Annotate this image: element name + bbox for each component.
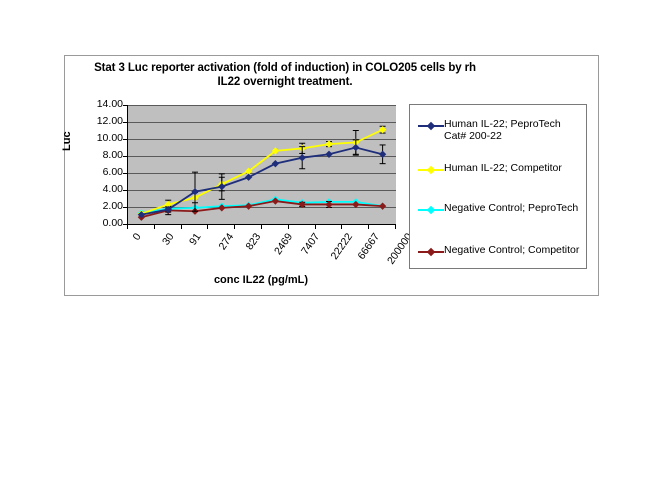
x-axis-tick-label: 91 <box>187 231 204 247</box>
legend-label: Human IL-22; PeproTechCat# 200-22 <box>444 119 561 142</box>
x-axis-tick-label: 2469 <box>272 231 295 257</box>
legend-label-line-1: Negative Control; PeproTech <box>444 203 578 215</box>
legend-marker-icon <box>418 246 444 258</box>
y-axis-tick-label: 6.00 <box>81 166 123 178</box>
x-axis-tick-mark <box>154 225 155 229</box>
x-axis-tick-mark <box>127 225 128 229</box>
x-axis-tick-label: 274 <box>216 231 236 252</box>
legend-label-line-1: Human IL-22; Competitor <box>444 163 562 175</box>
x-axis-tick-label: 66667 <box>355 231 382 262</box>
y-axis-tick-label: 8.00 <box>81 149 123 161</box>
legend-marker-icon <box>418 120 444 132</box>
legend-item-2[interactable]: Negative Control; PeproTech <box>418 203 584 216</box>
legend-label: Negative Control; PeproTech <box>444 203 578 215</box>
x-axis-tick-mark <box>315 225 316 229</box>
legend-label: Human IL-22; Competitor <box>444 163 562 175</box>
series-0 <box>138 140 387 218</box>
chart-legend: Human IL-22; PeproTechCat# 200-22Human I… <box>409 104 587 269</box>
y-axis-tick-label: 12.00 <box>81 115 123 127</box>
legend-item-0[interactable]: Human IL-22; PeproTechCat# 200-22 <box>418 119 584 142</box>
x-axis-tick-label: 0 <box>131 231 144 243</box>
x-axis-tick-label: 823 <box>243 231 263 252</box>
x-axis-tick-mark <box>341 225 342 229</box>
x-axis-tick-mark <box>181 225 182 229</box>
x-axis-tick-mark <box>234 225 235 229</box>
x-axis-tick-mark <box>368 225 369 229</box>
legend-marker-icon <box>418 164 444 176</box>
x-axis-tick-mark <box>395 225 396 229</box>
y-axis-ticks: 0.002.004.006.008.0010.0012.0014.00 <box>77 105 123 224</box>
x-axis-tick-label: 7407 <box>299 231 322 257</box>
legend-marker-icon <box>418 204 444 216</box>
chart-title: Stat 3 Luc reporter activation (fold of … <box>85 62 485 89</box>
y-axis-tick-label: 2.00 <box>81 200 123 212</box>
y-axis-tick-label: 14.00 <box>81 98 123 110</box>
legend-label-line-2: Cat# 200-22 <box>444 131 561 143</box>
legend-label-line-1: Negative Control; Competitor <box>444 245 579 257</box>
x-axis-tick-mark <box>207 225 208 229</box>
x-axis-tick-mark <box>288 225 289 229</box>
chart-title-line-1: Stat 3 Luc reporter activation (fold of … <box>94 62 417 74</box>
y-axis-title: Luc <box>61 131 73 151</box>
legend-item-1[interactable]: Human IL-22; Competitor <box>418 163 584 176</box>
legend-label: Negative Control; Competitor <box>444 245 579 257</box>
y-axis-tick-label: 4.00 <box>81 183 123 195</box>
plot-area <box>127 105 396 225</box>
x-axis-tick-label: 22222 <box>328 231 355 262</box>
series-2 <box>138 196 387 217</box>
legend-label-line-1: Human IL-22; PeproTech <box>444 119 561 131</box>
chart-frame: Stat 3 Luc reporter activation (fold of … <box>64 55 599 296</box>
y-axis-tick-label: 10.00 <box>81 132 123 144</box>
y-axis-tick-label: 0.00 <box>81 217 123 229</box>
x-axis-tick-label: 30 <box>160 231 177 247</box>
x-axis-tick-mark <box>261 225 262 229</box>
x-axis-title: conc IL22 (pg/mL) <box>127 274 395 286</box>
series-lines <box>128 105 396 224</box>
legend-item-3[interactable]: Negative Control; Competitor <box>418 245 584 258</box>
